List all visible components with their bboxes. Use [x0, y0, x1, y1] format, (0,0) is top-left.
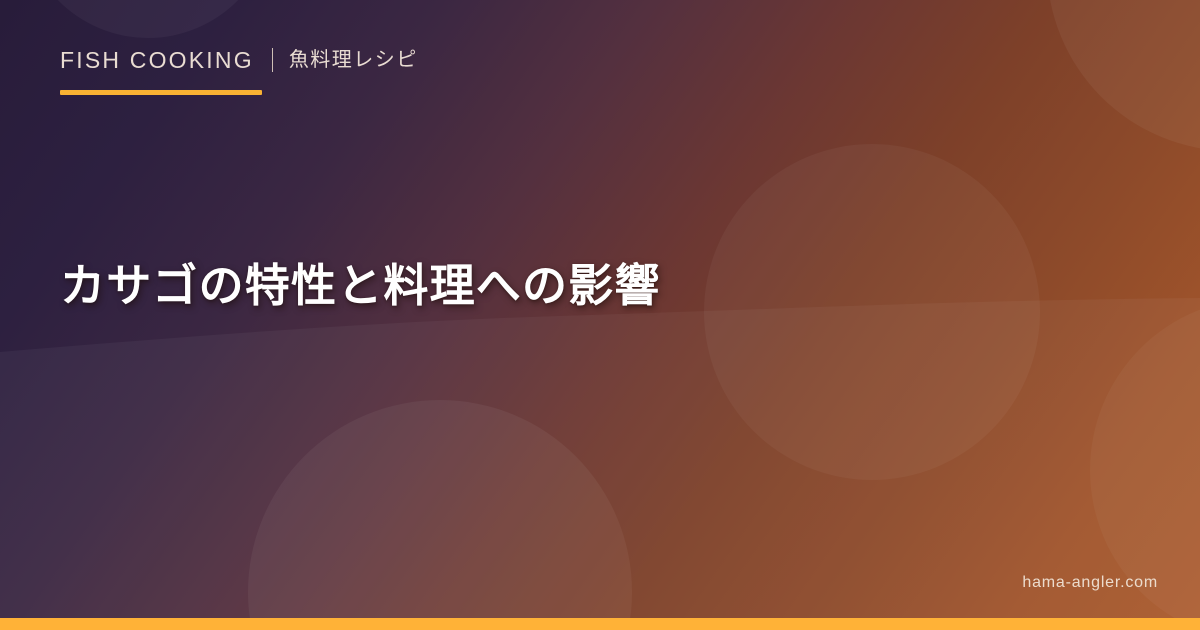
decor-wave [0, 298, 1200, 630]
ogp-banner: FISH COOKING 魚料理レシピ カサゴの特性と料理への影響 hama-a… [0, 0, 1200, 630]
kicker-row: FISH COOKING 魚料理レシピ [60, 48, 418, 72]
decor-circle-top-left [22, 0, 274, 38]
kicker-separator-icon [272, 48, 273, 72]
decor-circle-bottom-left [248, 400, 632, 630]
kicker-japanese: 魚料理レシピ [289, 50, 418, 70]
kicker-underline-accent [60, 90, 262, 95]
site-domain: hama-angler.com [1022, 574, 1158, 592]
decor-circle-top-right [1047, 0, 1200, 151]
page-title: カサゴの特性と料理への影響 [60, 256, 1100, 316]
kicker-english: FISH COOKING [60, 49, 254, 72]
bottom-accent-bar [0, 618, 1200, 630]
header-block: FISH COOKING 魚料理レシピ [60, 48, 418, 95]
